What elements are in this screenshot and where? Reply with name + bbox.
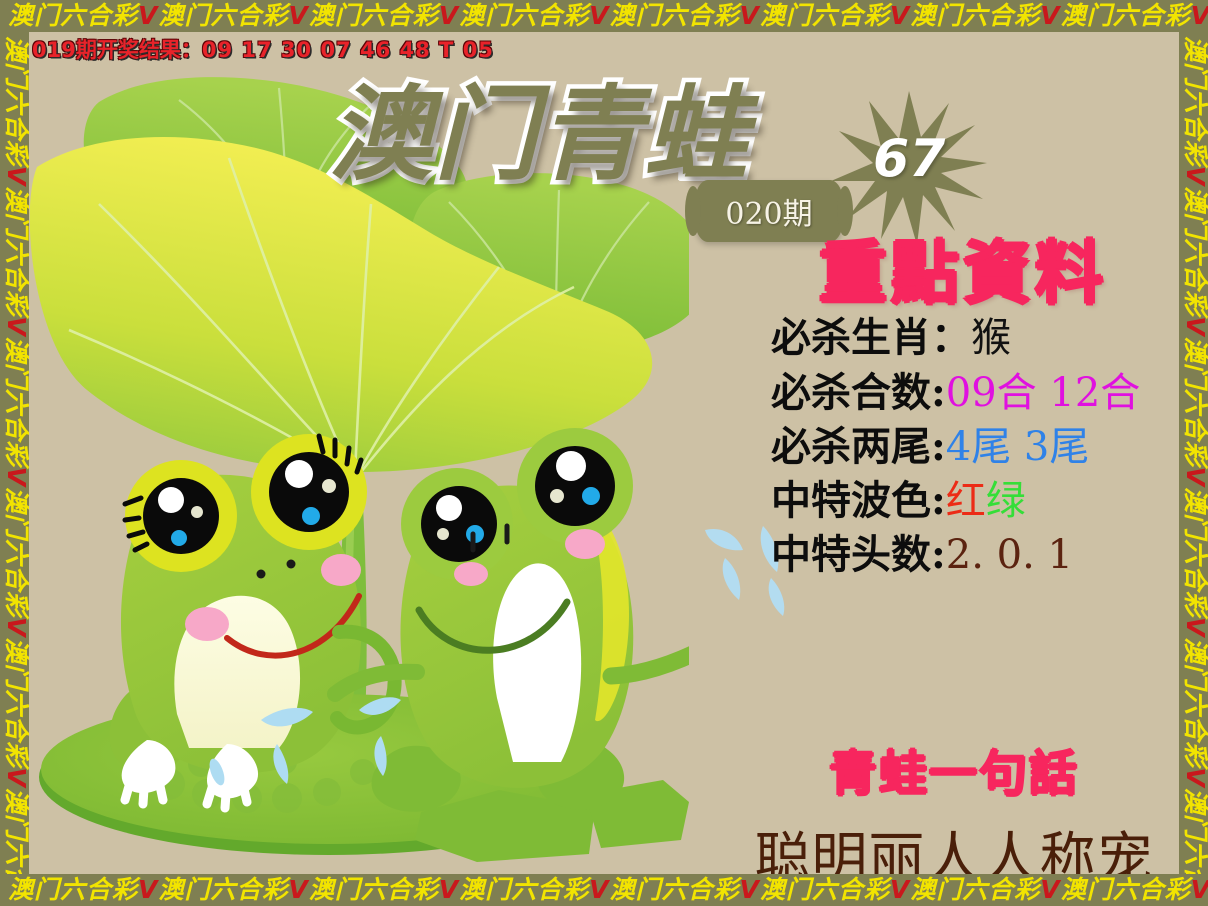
border-unit: 澳门六合彩 [8,1,138,30]
info-value-bose-green: 绿 [986,478,1026,524]
issue-badge: 020期 [694,180,844,242]
frog-left-cheek-left [185,607,229,641]
starburst-badge: 67 [829,89,989,249]
saying-text: 聪明丽人人称宠 [719,814,1179,874]
issue-badge-label: 020期 [694,180,844,242]
poster-inner-page: 019期开奖结果：09 17 30 07 46 48 T 05 67 澳门青蛙 … [29,32,1179,874]
info-value-liangwei: 4尾 3尾 [946,424,1090,470]
info-value-bose-red: 红 [946,478,986,524]
draw-result-numbers: 09 17 30 07 46 48 T 05 [202,38,494,62]
poster-canvas: 澳门六合彩V澳门六合彩V澳门六合彩V澳门六合彩V澳门六合彩V澳门六合彩V澳门六合… [0,0,1208,906]
page-title: 澳门青蛙 [329,84,749,187]
key-info-block: 重點資料 必杀生肖：猴 必杀合数:09合 12合 必杀两尾:4尾 3尾 中特波色… [729,238,1179,582]
info-label-liangwei: 必杀两尾: [771,423,946,470]
saying-heading: 青蛙一句話 [719,734,1179,804]
info-value-toushu: 2. 0. 1 [946,532,1073,578]
info-row-bose: 中特波色:红绿 [729,474,1179,528]
info-label-heshu: 必杀合数: [771,369,946,416]
border-band-top: 澳门六合彩V澳门六合彩V澳门六合彩V澳门六合彩V澳门六合彩V澳门六合彩V澳门六合… [0,0,1208,32]
info-row-toushu: 中特头数:2. 0. 1 [729,528,1179,582]
border-pattern-bottom-text: 澳门六合彩V澳门六合彩V澳门六合彩V澳门六合彩V澳门六合彩V澳门六合彩V澳门六合… [8,877,1208,902]
info-row-shengxiao: 必杀生肖：猴 [729,311,1179,365]
frog-right-belly [493,563,581,762]
frog-right-cheek-left [454,562,488,586]
info-label-bose: 中特波色: [771,477,946,524]
saying-block: 青蛙一句話 聪明丽人人称宠 [719,734,1179,874]
info-label-shengxiao: 必杀生肖： [771,314,971,361]
draw-result-label: 019期开奖结果： [32,38,202,62]
starburst-number: 67 [873,129,945,189]
info-value-shengxiao: 猴 [971,315,1011,361]
info-label-toushu: 中特头数: [771,531,946,578]
draw-result-line: 019期开奖结果：09 17 30 07 46 48 T 05 [32,34,494,64]
info-value-heshu: 09合 12合 [946,370,1141,416]
border-band-left: 澳门六合彩V澳门六合彩V澳门六合彩V澳门六合彩V澳门六合彩V澳门六合彩V澳门六合… [0,32,29,874]
border-pattern-right-text: 澳门六合彩V澳门六合彩V澳门六合彩V澳门六合彩V澳门六合彩V澳门六合彩V澳门六合… [1183,36,1208,874]
frog-right-cheek-right [565,529,605,559]
frog-left-cheek-right [321,554,361,586]
border-band-right: 澳门六合彩V澳门六合彩V澳门六合彩V澳门六合彩V澳门六合彩V澳门六合彩V澳门六合… [1179,32,1208,874]
border-accent: V [138,1,158,30]
key-info-heading: 重點資料 [729,238,1179,311]
info-row-liangwei: 必杀两尾:4尾 3尾 [729,420,1179,474]
border-band-bottom: 澳门六合彩V澳门六合彩V澳门六合彩V澳门六合彩V澳门六合彩V澳门六合彩V澳门六合… [0,874,1208,906]
info-row-heshu: 必杀合数:09合 12合 [729,366,1179,420]
border-pattern-left-text: 澳门六合彩V澳门六合彩V澳门六合彩V澳门六合彩V澳门六合彩V澳门六合彩V澳门六合… [4,36,29,874]
border-pattern-top-text: 澳门六合彩V澳门六合彩V澳门六合彩V澳门六合彩V澳门六合彩V澳门六合彩V澳门六合… [8,3,1208,28]
